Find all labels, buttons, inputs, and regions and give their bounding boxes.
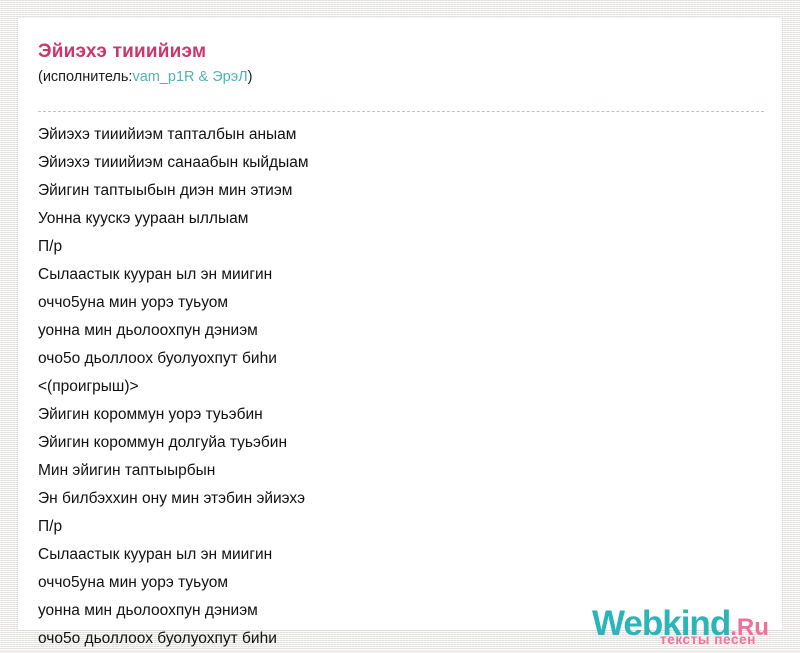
site-logo[interactable]: Webkind.Ru тексты песен [592, 606, 784, 650]
artist-label: (исполнитель: [38, 69, 132, 85]
lyric-line: Сылаастык кууран ыл эн миигин [38, 541, 762, 569]
lyric-line: П/р [38, 233, 762, 261]
page-title: Эйиэхэ тииийиэм [38, 40, 764, 64]
lyric-line: очо5о дьоллоох буолуохпут биһи [38, 345, 762, 373]
content-card: Эйиэхэ тииийиэм (исполнитель:vam_p1R & Э… [18, 18, 782, 630]
lyric-line: оччо5уна мин уорэ туьуом [38, 289, 762, 317]
lyric-line: Мин эйигин таптыырбын [38, 457, 762, 485]
artist-paren-close: ) [248, 69, 253, 85]
lyric-line: <(проигрыш)> [38, 373, 762, 401]
header-divider [38, 111, 764, 112]
lyric-line: Эйиэхэ тииийиэм санаабын кыйдыам [38, 149, 762, 177]
lyric-line: Эйигин короммун долгуйа туьэбин [38, 429, 762, 457]
logo-tagline: тексты песен [660, 632, 756, 648]
lyrics-text: Эйиэхэ тииийиэм тапталбын аныамЭйиэхэ ти… [38, 121, 762, 653]
lyric-line: оччо5уна мин уорэ туьуом [38, 569, 762, 597]
lyric-line: Сылаастык кууран ыл эн миигин [38, 261, 762, 289]
lyric-line: П/р [38, 513, 762, 541]
lyric-line: Эйиэхэ тииийиэм тапталбын аныам [38, 121, 762, 149]
lyric-line: Уонна куускэ уураан ыллыам [38, 205, 762, 233]
lyric-line: Эн билбэххин ону мин этэбин эйиэхэ [38, 485, 762, 513]
lyric-line: Эйигин таптыыбын диэн мин этиэм [38, 177, 762, 205]
song-header: Эйиэхэ тииийиэм (исполнитель:vam_p1R & Э… [38, 40, 764, 87]
artist-line: (исполнитель:vam_p1R & ЭрэЛ) [38, 67, 764, 87]
lyric-line: Эйигин короммун уорэ туьэбин [38, 401, 762, 429]
artist-link[interactable]: vam_p1R & ЭрэЛ [132, 69, 247, 85]
lyric-line: уонна мин дьолоохпун дэниэм [38, 317, 762, 345]
